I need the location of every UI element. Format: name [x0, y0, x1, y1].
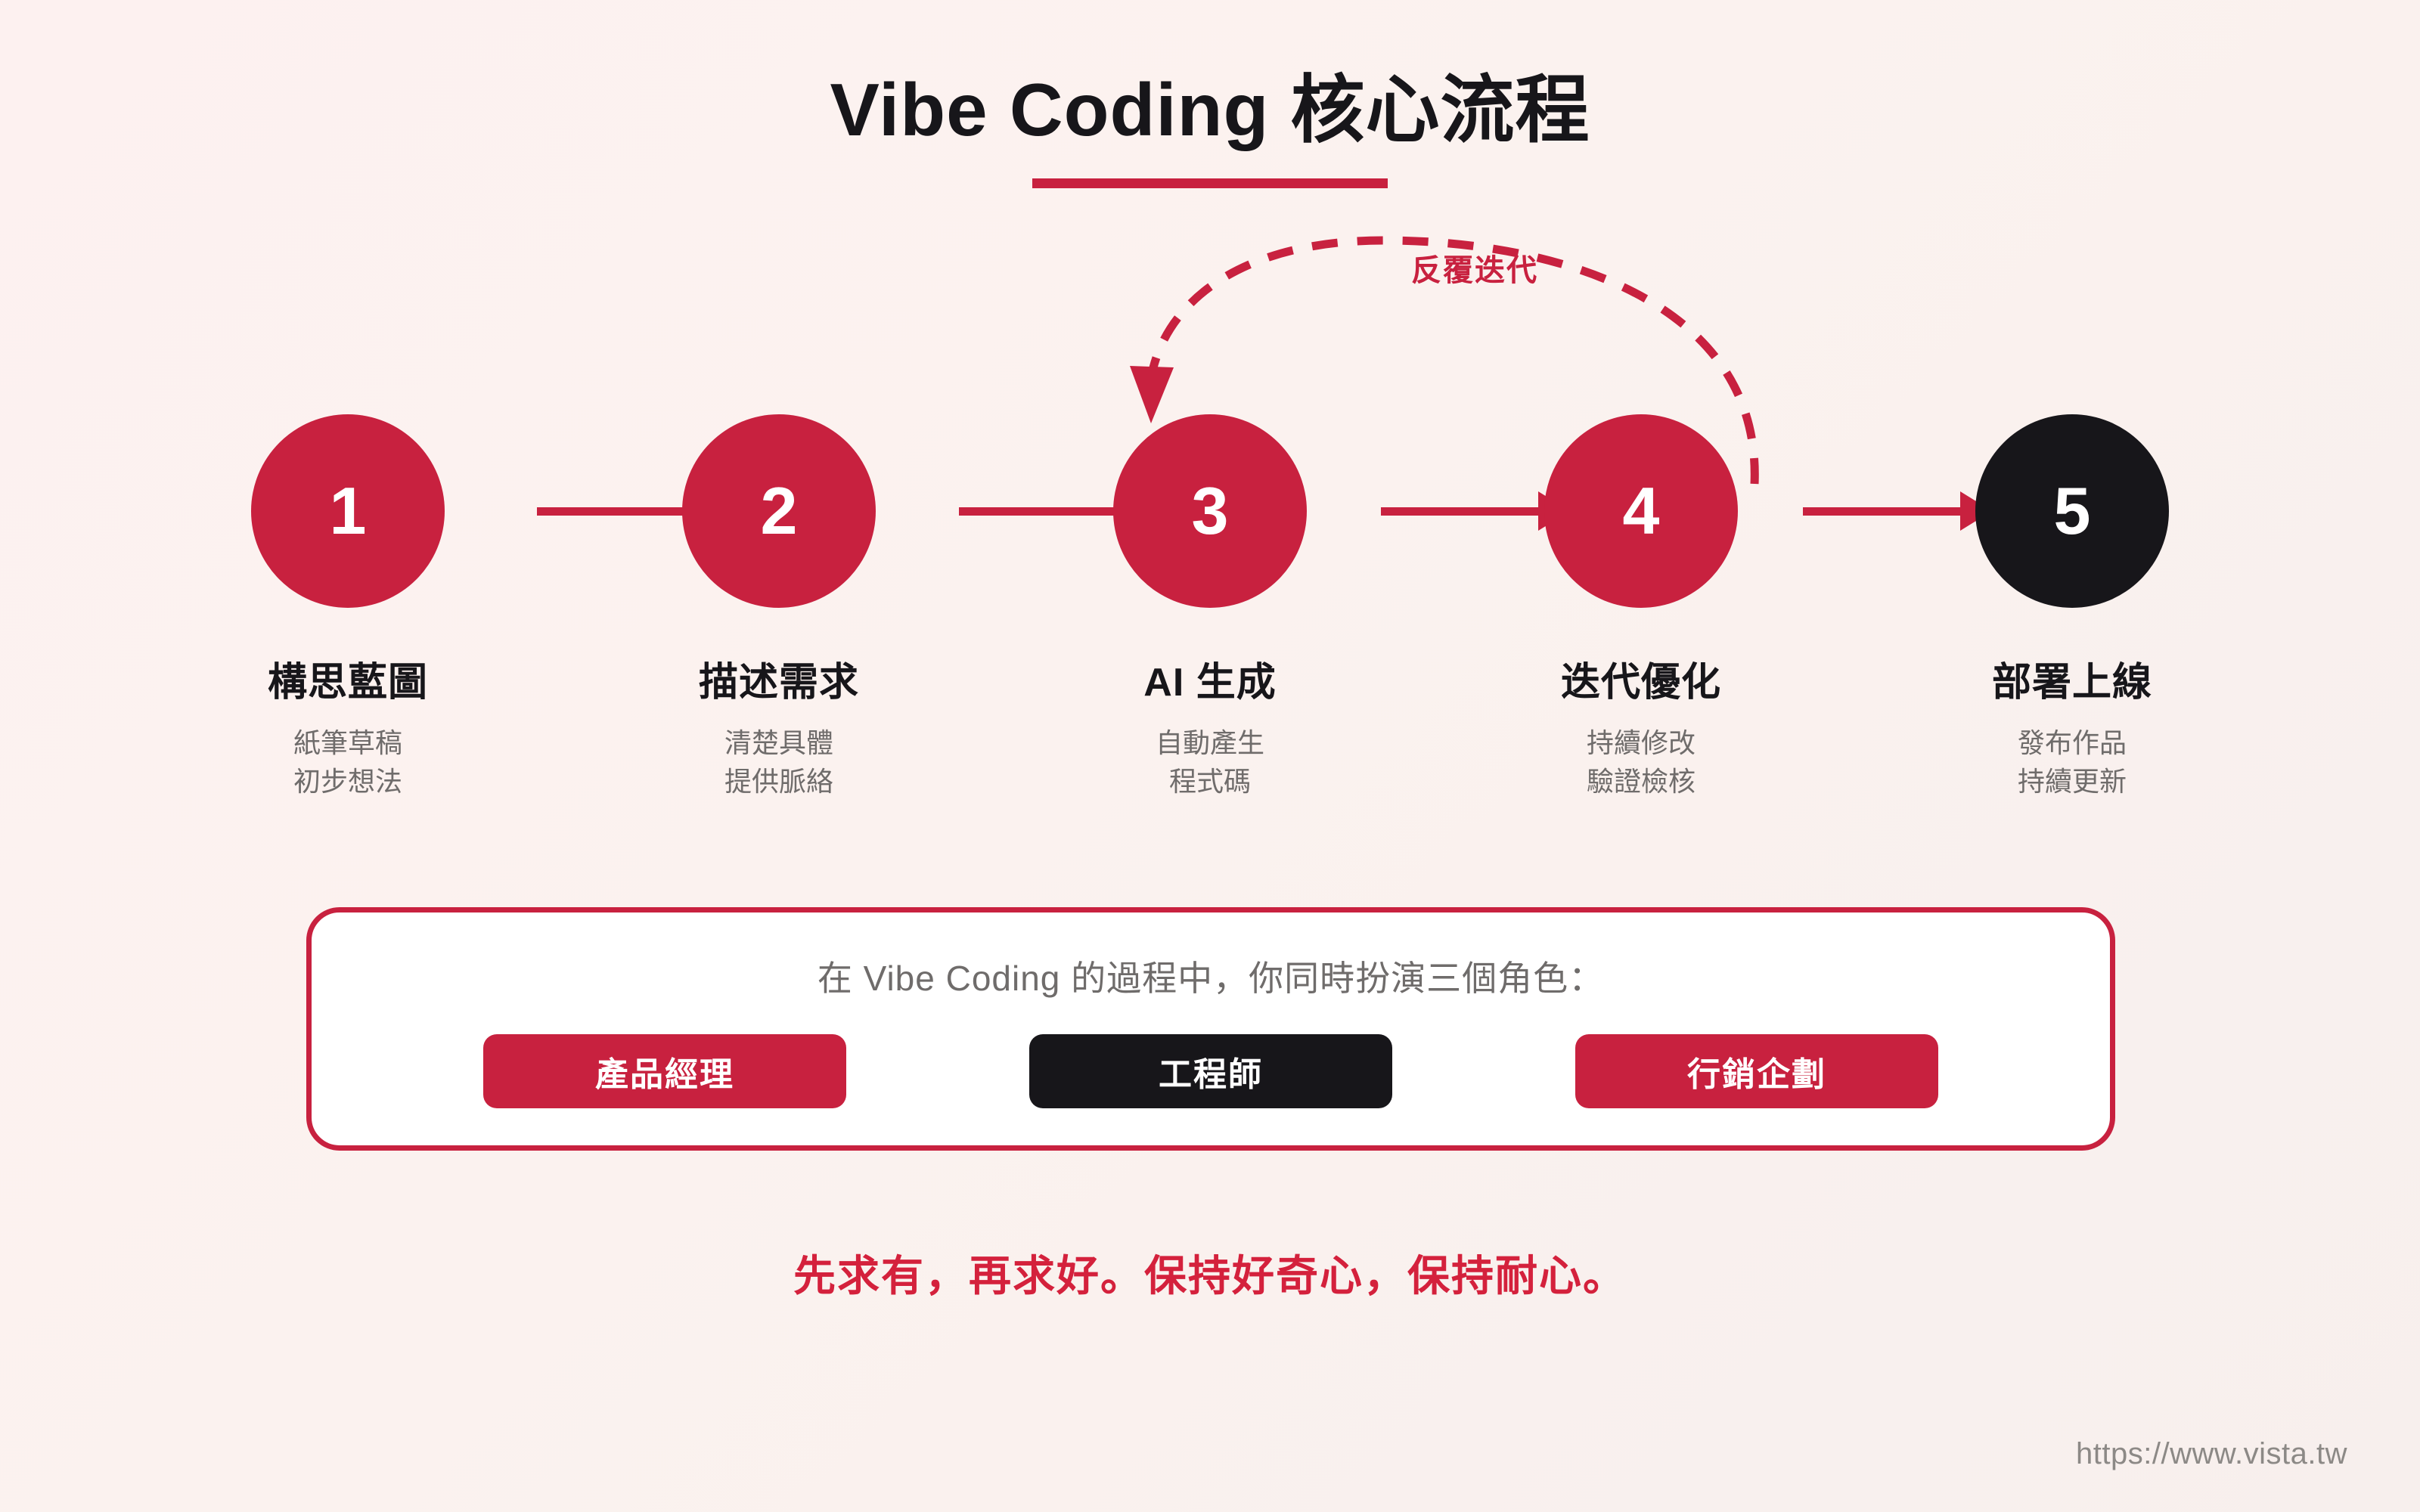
step-title: 部署上線	[1992, 650, 2152, 707]
step-title: 描述需求	[699, 650, 859, 707]
step-subtitle: 紙筆草稿 初步想法	[293, 723, 402, 801]
step-subtitle: 持續修改 驗證檢核	[1587, 723, 1696, 801]
roles-pill-group: 產品經理 工程師 行銷企劃	[483, 1034, 1938, 1108]
step-subtitle: 發布作品 持續更新	[2018, 723, 2127, 801]
step-subtitle-line-2: 持續更新	[2018, 762, 2127, 801]
title-underline-rule	[1032, 178, 1388, 188]
step-subtitle: 自動產生 程式碼	[1156, 723, 1264, 801]
flow-step-3[interactable]: 3 AI 生成 自動產生 程式碼	[1059, 414, 1361, 801]
step-number: 3	[1192, 478, 1229, 544]
step-subtitle: 清楚具體 提供脈絡	[724, 723, 833, 801]
flow-step-1[interactable]: 1 構思藍圖 紙筆草稿 初步想法	[197, 414, 499, 801]
step-number: 4	[1623, 478, 1660, 544]
roles-lead-text: 在 Vibe Coding 的過程中，你同時扮演三個角色：	[818, 951, 1604, 1001]
step-subtitle-line-1: 紙筆草稿	[293, 723, 402, 762]
step-subtitle-line-2: 提供脈絡	[724, 762, 833, 801]
step-subtitle-line-1: 清楚具體	[724, 723, 833, 762]
page-title-block: Vibe Coding 核心流程	[0, 70, 2420, 188]
flow-step-4[interactable]: 4 迭代優化 持續修改 驗證檢核	[1490, 414, 1792, 801]
step-subtitle-line-2: 驗證檢核	[1587, 762, 1696, 801]
roles-card: 在 Vibe Coding 的過程中，你同時扮演三個角色： 產品經理 工程師 行…	[306, 907, 2115, 1151]
flow-step-2[interactable]: 2 描述需求 清楚具體 提供脈絡	[628, 414, 930, 801]
role-pill-product-manager[interactable]: 產品經理	[483, 1034, 846, 1108]
step-subtitle-line-1: 持續修改	[1587, 723, 1696, 762]
role-pill-engineer[interactable]: 工程師	[1029, 1034, 1392, 1108]
step-number-circle: 5	[1975, 414, 2169, 608]
step-subtitle-line-2: 初步想法	[293, 762, 402, 801]
role-pill-marketing-planner[interactable]: 行銷企劃	[1575, 1034, 1938, 1108]
footer-url[interactable]: https://www.vista.tw	[2076, 1437, 2347, 1471]
step-subtitle-line-1: 自動產生	[1156, 723, 1264, 762]
step-number: 2	[761, 478, 798, 544]
step-number-circle: 4	[1544, 414, 1738, 608]
step-number-circle: 2	[682, 414, 876, 608]
step-subtitle-line-2: 程式碼	[1156, 762, 1264, 801]
step-title: 構思藍圖	[268, 650, 428, 707]
iteration-loop-label: 反覆迭代	[1339, 246, 1611, 290]
step-number: 5	[2054, 478, 2091, 544]
step-number: 1	[330, 478, 367, 544]
step-title: AI 生成	[1143, 650, 1276, 707]
tagline: 先求有，再求好。保持好奇心，保持耐心。	[0, 1242, 2420, 1303]
flow-step-5[interactable]: 5 部署上線 發布作品 持續更新	[1921, 414, 2223, 801]
step-number-circle: 3	[1113, 414, 1307, 608]
page-title: Vibe Coding 核心流程	[0, 70, 2420, 151]
flow-steps: 1 構思藍圖 紙筆草稿 初步想法 2 描述需求 清楚具體 提供脈絡 3 AI 生…	[197, 414, 2223, 801]
step-subtitle-line-1: 發布作品	[2018, 723, 2127, 762]
step-title: 迭代優化	[1561, 650, 1721, 707]
step-number-circle: 1	[251, 414, 445, 608]
infographic-canvas: Vibe Coding 核心流程 反覆迭代 1 構思藍圖 紙筆草稿 初步想	[0, 0, 2420, 1512]
